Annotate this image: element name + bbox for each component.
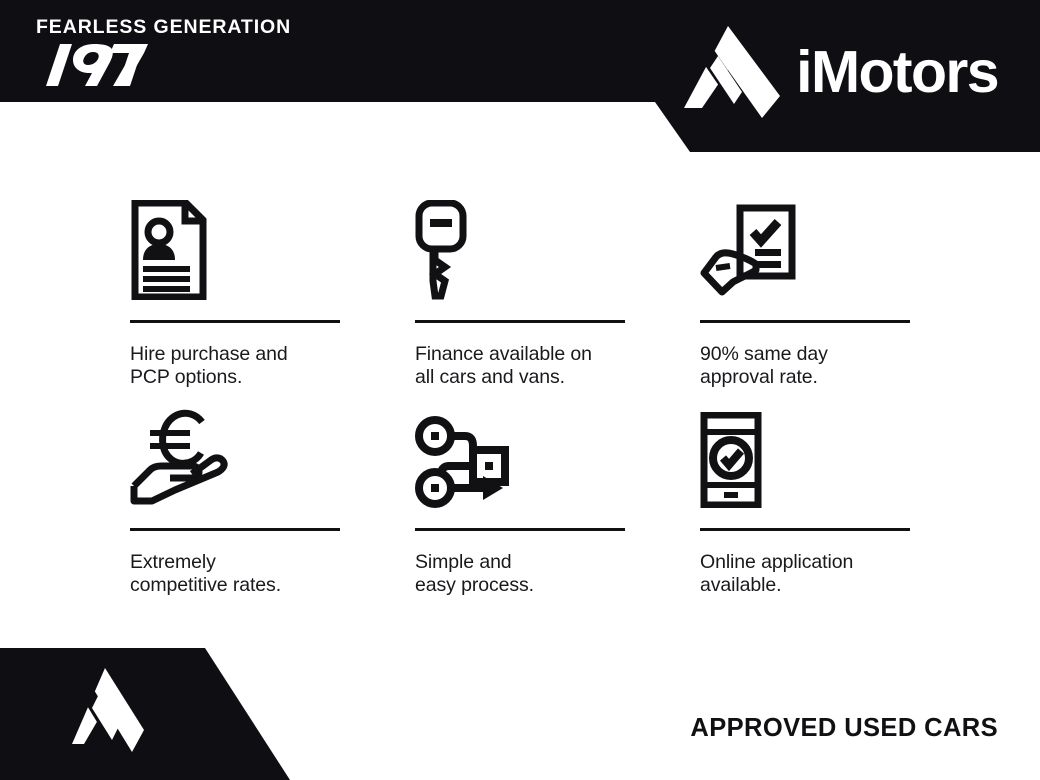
hand-holding-checklist-icon xyxy=(700,204,796,300)
feature-icon-wrapper xyxy=(415,404,700,508)
feature-label: Simple and easy process. xyxy=(415,551,700,597)
feature-icon-wrapper xyxy=(700,404,912,508)
footer-banner xyxy=(0,648,300,780)
feature-card: Online application available. xyxy=(700,404,912,612)
feature-card: Finance available on all cars and vans. xyxy=(415,196,700,404)
approved-used-cars-tagline: APPROVED USED CARS xyxy=(690,714,998,743)
document-person-icon xyxy=(130,200,208,300)
feature-label: Extremely competitive rates. xyxy=(130,551,415,597)
feature-divider xyxy=(130,528,340,531)
feature-divider xyxy=(130,320,340,323)
feature-divider xyxy=(700,320,910,323)
feature-divider xyxy=(415,320,625,323)
feature-card: Hire purchase and PCP options. xyxy=(130,196,415,404)
feature-label: Hire purchase and PCP options. xyxy=(130,343,415,389)
feature-card: Extremely competitive rates. xyxy=(130,404,415,612)
imotors-wordmark: iMotors xyxy=(796,43,998,102)
brand-logo-group: iMotors xyxy=(684,26,998,118)
process-flowchart-icon xyxy=(415,416,511,508)
year-1971-logo xyxy=(36,44,156,86)
feature-label: Finance available on all cars and vans. xyxy=(415,343,700,389)
feature-icon-wrapper xyxy=(130,404,415,508)
header-left-group: FEARLESS GENERATION xyxy=(36,18,356,91)
feature-label: Online application available. xyxy=(700,551,912,597)
footer-imotors-chevron-mark-icon xyxy=(72,668,144,760)
imotors-chevron-mark-icon xyxy=(684,26,780,118)
feature-icon-wrapper xyxy=(415,196,700,300)
features-grid: Hire purchase and PCP options. Finance a… xyxy=(130,196,912,612)
smartphone-check-icon xyxy=(700,412,762,508)
feature-divider xyxy=(700,528,910,531)
euro-in-hand-icon xyxy=(130,408,234,508)
feature-card: Simple and easy process. xyxy=(415,404,700,612)
feature-label: 90% same day approval rate. xyxy=(700,343,912,389)
feature-card: 90% same day approval rate. xyxy=(700,196,912,404)
feature-icon-wrapper xyxy=(130,196,415,300)
car-key-icon xyxy=(415,200,467,300)
feature-icon-wrapper xyxy=(700,196,912,300)
fearless-generation-tagline: FEARLESS GENERATION xyxy=(36,18,356,38)
feature-divider xyxy=(415,528,625,531)
